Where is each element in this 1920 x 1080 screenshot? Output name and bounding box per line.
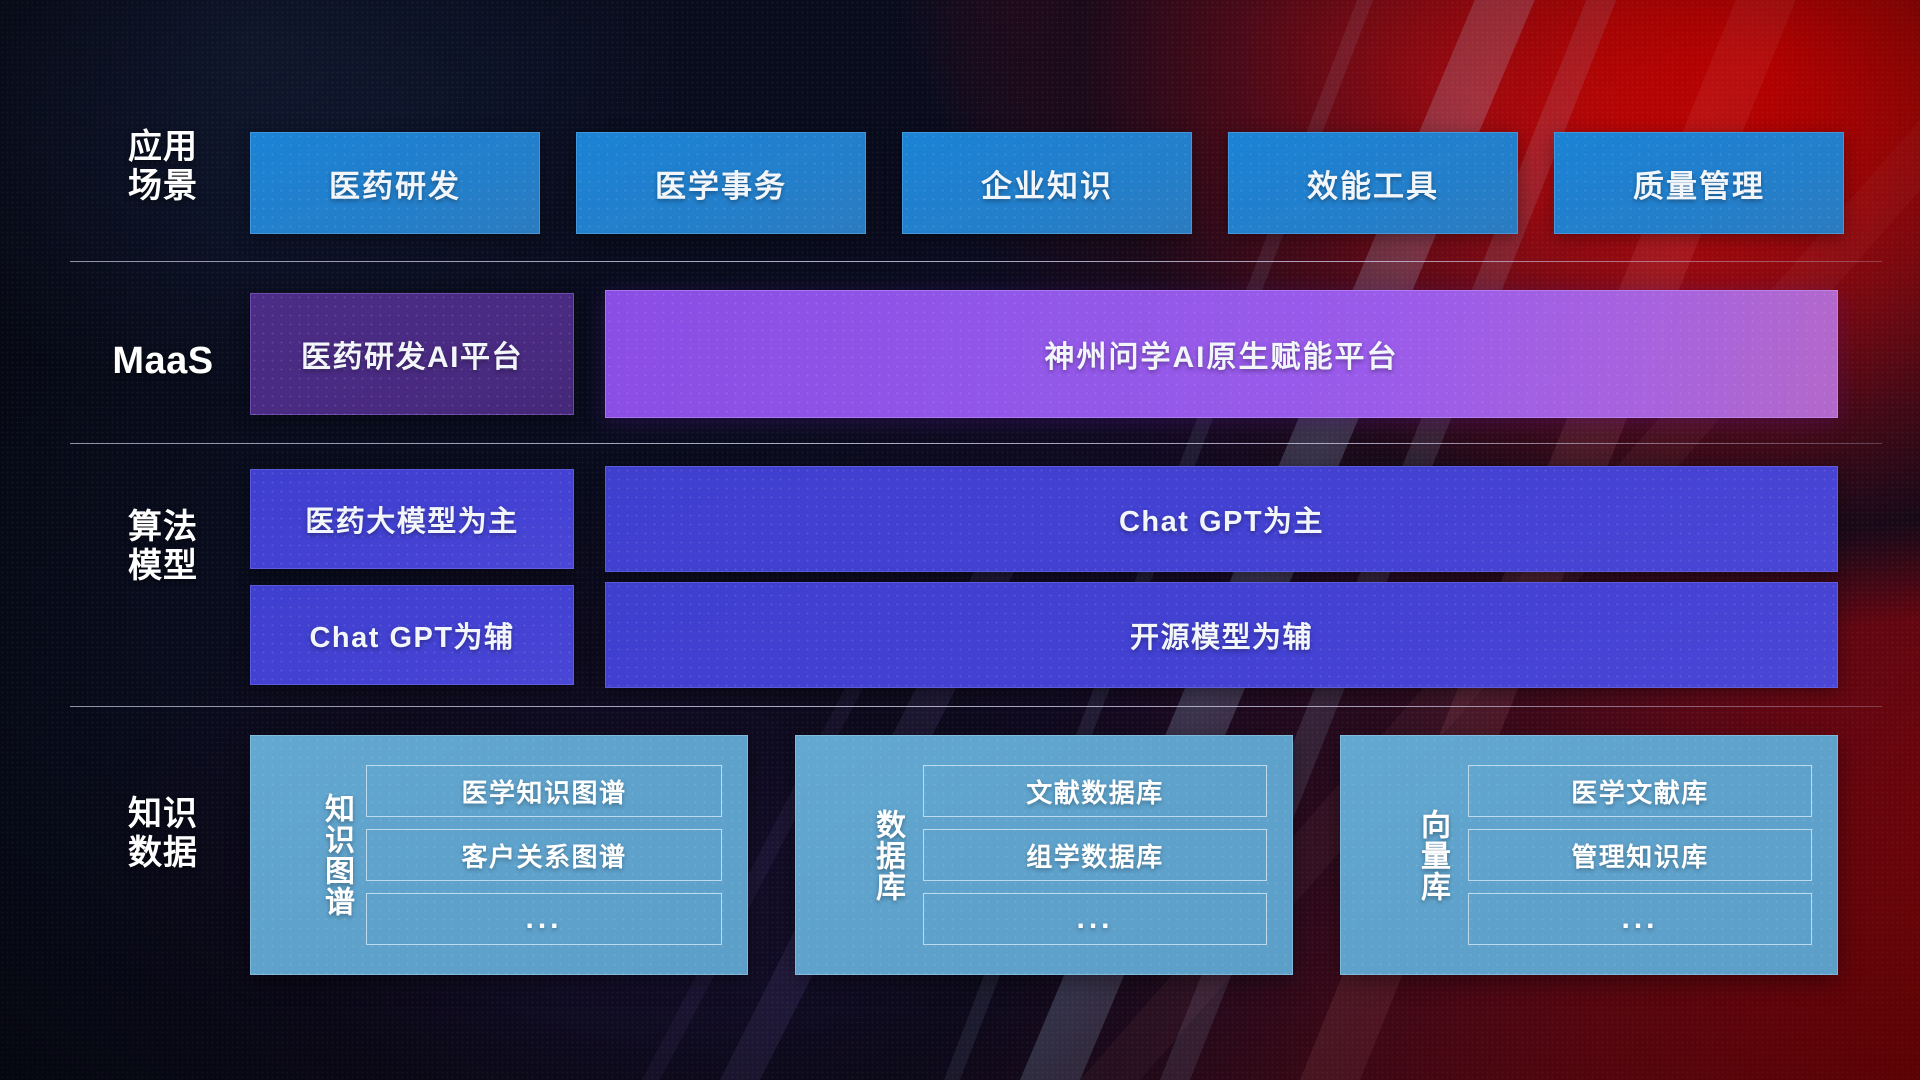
row-divider-1 (70, 261, 1882, 262)
knowledge-panel-items: 医学知识图谱 客户关系图谱 ... (366, 765, 722, 945)
algo-tile-medicine-large-model-primary[interactable]: 医药大模型为主 (250, 469, 574, 569)
algo-tile-label: Chat GPT为主 (1119, 498, 1324, 540)
knowledge-item[interactable]: ... (366, 893, 722, 945)
row-label-application-scenarios: 应用 场景 (78, 128, 248, 207)
app-tile-efficiency-tools[interactable]: 效能工具 (1228, 132, 1518, 234)
maas-tile-label: 医药研发AI平台 (301, 332, 523, 376)
algo-tile-label: 医药大模型为主 (305, 498, 519, 540)
row-label-algorithm-model: 算法 模型 (78, 508, 248, 587)
maas-tile-medicine-rd-platform[interactable]: 医药研发AI平台 (250, 293, 574, 415)
row-label-line-1: 知识 (78, 795, 248, 834)
app-tile-label: 质量管理 (1633, 161, 1765, 206)
knowledge-panel-label: 数据库 (833, 809, 903, 902)
algo-tile-opensource-model-secondary[interactable]: 开源模型为辅 (605, 582, 1838, 688)
row-label-knowledge-data: 知识 数据 (78, 795, 248, 874)
app-tile-label: 医学事务 (655, 161, 787, 206)
knowledge-panel-label: 知识图谱 (282, 793, 352, 917)
knowledge-item[interactable]: ... (923, 893, 1267, 945)
knowledge-panel-vector-database[interactable]: 向量库 医学文献库 管理知识库 ... (1340, 735, 1838, 975)
knowledge-item[interactable]: 组学数据库 (923, 829, 1267, 881)
row-label-line-1: 应用 (78, 128, 248, 167)
algo-tile-label: Chat GPT为辅 (309, 614, 514, 656)
row-label-maas: MaaS (78, 339, 248, 383)
knowledge-item[interactable]: ... (1468, 893, 1812, 945)
maas-tile-label: 神州问学AI原生赋能平台 (1045, 332, 1399, 376)
row-label-line-2: 模型 (78, 547, 248, 586)
algo-tile-chatgpt-primary[interactable]: Chat GPT为主 (605, 466, 1838, 572)
app-tile-medicine-rd[interactable]: 医药研发 (250, 132, 540, 234)
row-label-line-2: 场景 (78, 167, 248, 206)
app-tile-label: 企业知识 (981, 161, 1113, 206)
app-tile-quality-management[interactable]: 质量管理 (1554, 132, 1844, 234)
app-tile-medical-affairs[interactable]: 医学事务 (576, 132, 866, 234)
knowledge-item[interactable]: 医学文献库 (1468, 765, 1812, 817)
architecture-diagram: 应用 场景 医药研发 医学事务 企业知识 效能工具 质量管理 MaaS 医药研发… (0, 0, 1920, 1080)
knowledge-panel-knowledge-graph[interactable]: 知识图谱 医学知识图谱 客户关系图谱 ... (250, 735, 748, 975)
row-label-line-2: 数据 (78, 834, 248, 873)
app-tile-label: 医药研发 (329, 161, 461, 206)
row-label-line-1: 算法 (78, 508, 248, 547)
algo-tile-chatgpt-secondary[interactable]: Chat GPT为辅 (250, 585, 574, 685)
knowledge-panel-label: 向量库 (1378, 809, 1448, 902)
knowledge-item[interactable]: 客户关系图谱 (366, 829, 722, 881)
knowledge-panel-database[interactable]: 数据库 文献数据库 组学数据库 ... (795, 735, 1293, 975)
row-divider-2 (70, 443, 1882, 444)
app-tile-enterprise-knowledge[interactable]: 企业知识 (902, 132, 1192, 234)
knowledge-item[interactable]: 医学知识图谱 (366, 765, 722, 817)
app-tile-label: 效能工具 (1307, 161, 1439, 206)
maas-tile-shenzhou-platform[interactable]: 神州问学AI原生赋能平台 (605, 290, 1838, 418)
row-label-text: MaaS (78, 339, 248, 383)
knowledge-item[interactable]: 管理知识库 (1468, 829, 1812, 881)
algo-tile-label: 开源模型为辅 (1130, 614, 1313, 656)
row-divider-3 (70, 706, 1882, 707)
knowledge-item[interactable]: 文献数据库 (923, 765, 1267, 817)
knowledge-panel-items: 文献数据库 组学数据库 ... (923, 765, 1267, 945)
knowledge-panel-items: 医学文献库 管理知识库 ... (1468, 765, 1812, 945)
